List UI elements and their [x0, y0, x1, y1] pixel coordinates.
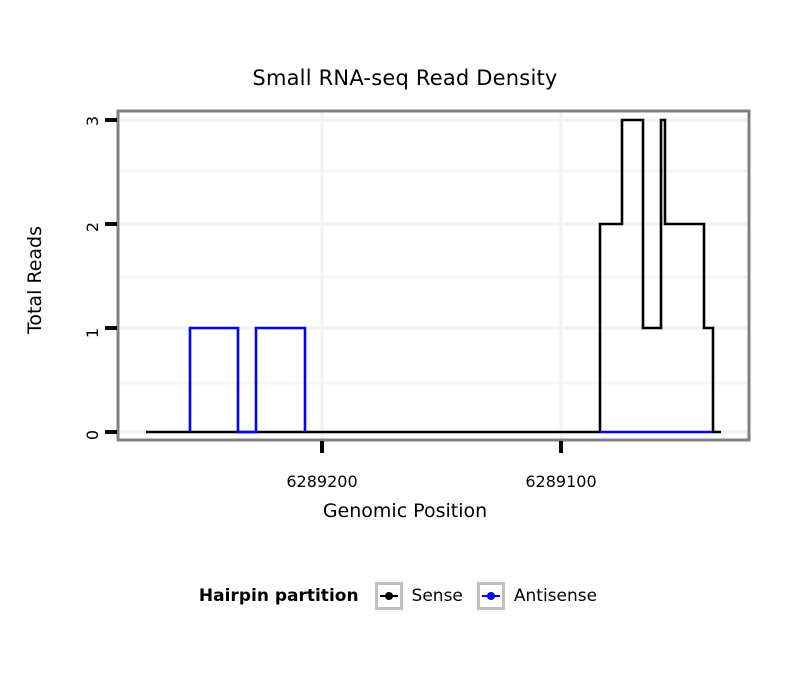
legend-title: Hairpin partition	[199, 586, 359, 606]
legend-label-sense: Sense	[412, 586, 463, 606]
legend-item-antisense[interactable]: Antisense	[477, 582, 597, 610]
legend-point-icon	[385, 592, 393, 600]
chart-figure: Small RNA-seq Read Density Total Reads G…	[0, 0, 810, 690]
legend-key-sense	[375, 582, 403, 610]
legend-label-antisense: Antisense	[514, 586, 597, 606]
chart-legend: Hairpin partition Sense Antisense	[0, 582, 810, 610]
legend-point-icon	[487, 592, 495, 600]
legend-key-antisense	[477, 582, 505, 610]
legend-item-sense[interactable]: Sense	[375, 582, 463, 610]
